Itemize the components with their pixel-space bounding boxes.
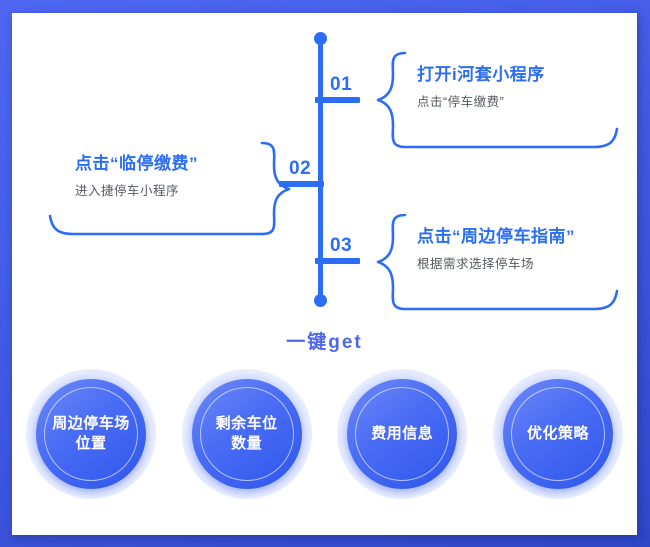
step-callout-03: 点击“周边停车指南” 根据需求选择停车场 — [372, 211, 622, 313]
step-callout-03-text: 点击“周边停车指南” 根据需求选择停车场 — [417, 228, 575, 271]
step-marker-bar-01 — [315, 97, 360, 103]
timeline-axis-bottom-dot — [314, 294, 327, 307]
result-circle-label-1: 周边停车场 位置 — [36, 379, 146, 489]
step-subtitle-01: 点击“停车缴费” — [417, 96, 545, 110]
infographic-frame: 01 02 03 打开i河套小程序 点击“停车缴费” 点击“临停缴费” 进入捷 — [0, 0, 650, 547]
result-circle-3: 费用信息 — [337, 369, 467, 499]
step-marker-bar-03 — [315, 258, 360, 264]
result-circle-label-4: 优化策略 — [503, 379, 613, 489]
timeline-axis-top-dot — [314, 32, 327, 45]
step-subtitle-02: 进入捷停车小程序 — [75, 185, 198, 199]
result-circle-1: 周边停车场 位置 — [26, 369, 156, 499]
result-circle-label-2: 剩余车位 数量 — [192, 379, 302, 489]
step-subtitle-03: 根据需求选择停车场 — [417, 258, 575, 272]
result-circle-row: 周边停车场 位置 剩余车位 数量 费用信息 优化策略 — [12, 369, 637, 509]
step-callout-02-text: 点击“临停缴费” 进入捷停车小程序 — [75, 155, 198, 198]
timeline-axis — [318, 35, 323, 305]
step-callout-02: 点击“临停缴费” 进入捷停车小程序 — [45, 139, 295, 237]
result-circle-label-3: 费用信息 — [347, 379, 457, 489]
step-callout-01: 打开i河套小程序 点击“停车缴费” — [372, 49, 622, 151]
step-callout-01-text: 打开i河套小程序 点击“停车缴费” — [417, 66, 545, 109]
result-circle-4: 优化策略 — [493, 369, 623, 499]
result-heading: 一键get — [12, 327, 637, 354]
result-circle-2: 剩余车位 数量 — [182, 369, 312, 499]
step-number-01: 01 — [330, 75, 352, 94]
step-number-03: 03 — [330, 236, 352, 255]
infographic-page: 01 02 03 打开i河套小程序 点击“停车缴费” 点击“临停缴费” 进入捷 — [12, 13, 637, 535]
step-title-01: 打开i河套小程序 — [417, 66, 545, 85]
step-title-02: 点击“临停缴费” — [75, 155, 198, 174]
step-title-03: 点击“周边停车指南” — [417, 228, 575, 247]
